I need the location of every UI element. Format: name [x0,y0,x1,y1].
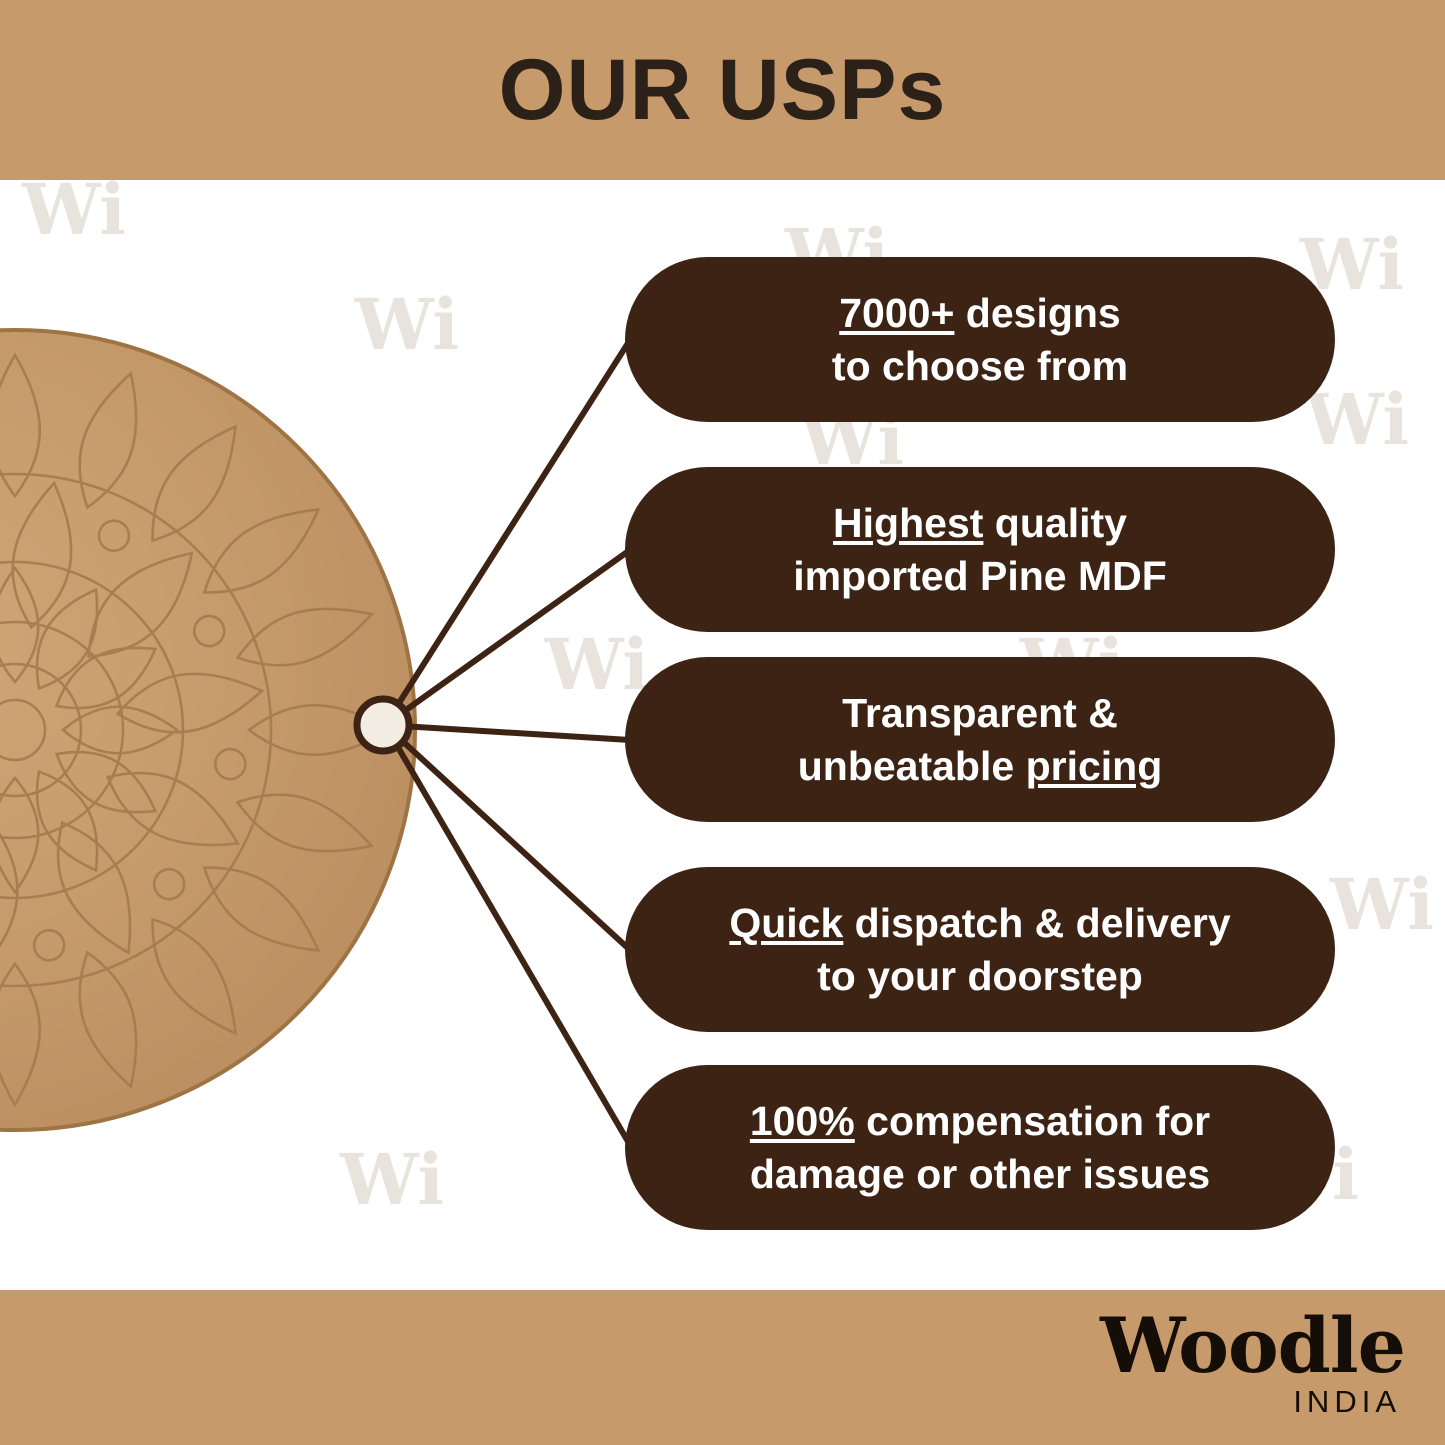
brand-name: Woodle [1100,1308,1405,1384]
usp-pill-text: Highest quality imported Pine MDF [793,497,1167,602]
usp-line2: imported Pine MDF [793,553,1167,599]
hub-node [357,699,409,751]
usp-line2: to your doorstep [817,953,1143,999]
usp-pill-designs[interactable]: 7000+ designs to choose from [625,257,1335,422]
usp-pill-text: 7000+ designs to choose from [832,287,1128,392]
usp-pill-quality[interactable]: Highest quality imported Pine MDF [625,467,1335,632]
usp-highlight: 7000+ [839,290,954,336]
usp-pill-pricing[interactable]: Transparent & unbeatable pricing [625,657,1335,822]
brand-subtitle: INDIA [1100,1386,1401,1417]
page-title: OUR USPs [499,41,947,140]
infographic-page: OUR USPs Wi Wi Wi Wi Wi Wi Wi Wi Wi Wi W… [0,0,1445,1445]
usp-highlight: Highest [833,500,983,546]
usp-pill-text: Transparent & unbeatable pricing [798,687,1163,792]
usp-line2: to choose from [832,343,1128,389]
usp-line1-rest: dispatch & delivery [843,900,1230,946]
brand-logo: Woodle INDIA [1100,1308,1405,1417]
usp-line1-rest: compensation for [855,1098,1210,1144]
footer-banner: Woodle INDIA [0,1290,1445,1445]
usp-line1-rest: Transparent & [842,690,1118,736]
usp-pill-text: Quick dispatch & delivery to your doorst… [729,897,1230,1002]
usp-highlight: Quick [729,900,843,946]
usp-line2: damage or other issues [750,1151,1210,1197]
usp-line1-rest: quality [983,500,1127,546]
usp-line1-rest: designs [954,290,1120,336]
usp-pill-dispatch[interactable]: Quick dispatch & delivery to your doorst… [625,867,1335,1032]
usp-pill-compensation[interactable]: 100% compensation for damage or other is… [625,1065,1335,1230]
diagram-canvas: Wi Wi Wi Wi Wi Wi Wi Wi Wi Wi Wi [0,180,1445,1290]
header-banner: OUR USPs [0,0,1445,180]
usp-highlight: pricing [1026,743,1163,789]
usp-highlight: 100% [750,1098,855,1144]
usp-pill-text: 100% compensation for damage or other is… [750,1095,1210,1200]
usp-line2-pre: unbeatable [798,743,1026,789]
